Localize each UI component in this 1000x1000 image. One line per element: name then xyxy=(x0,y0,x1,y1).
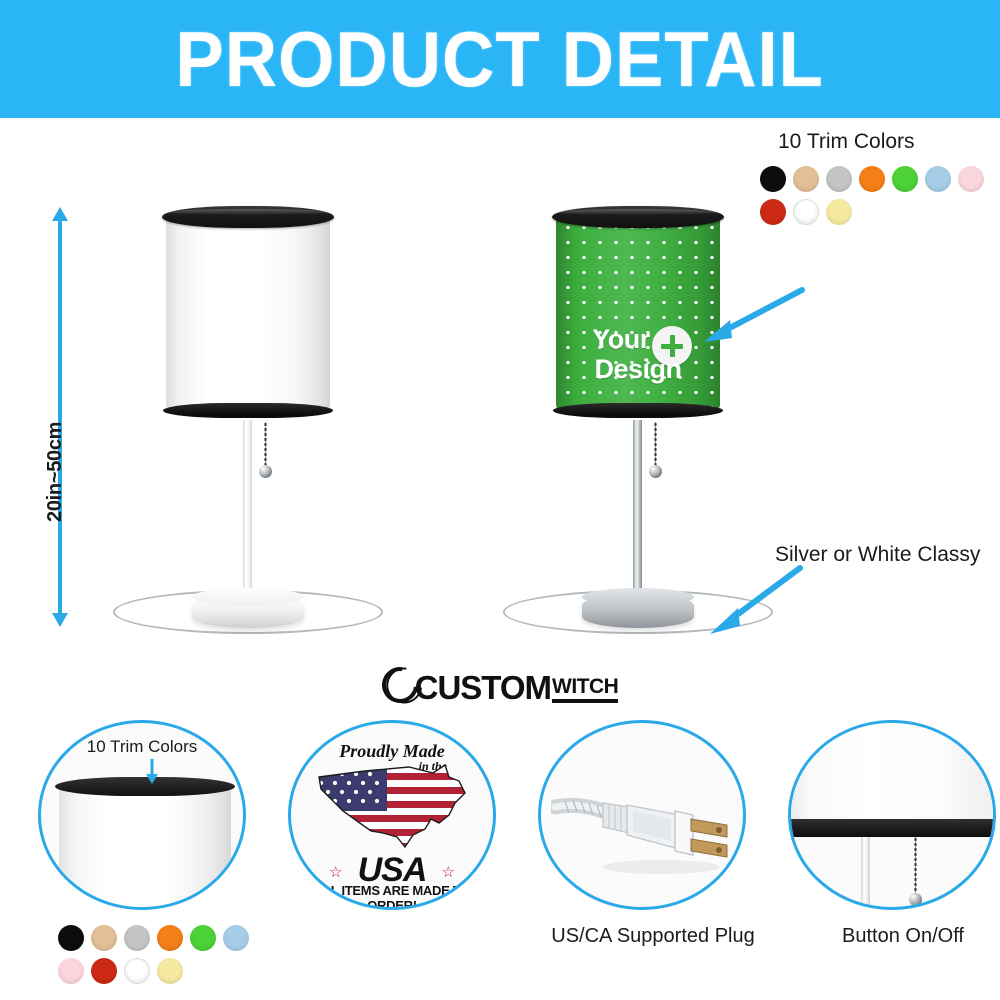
pull-chain[interactable] xyxy=(653,422,658,467)
chain-beads xyxy=(654,422,657,467)
chain-knob xyxy=(909,893,922,906)
trim-swatch-lightblue[interactable] xyxy=(223,925,249,951)
brand-logo: CUSTOM WITCH xyxy=(0,662,1000,708)
trim-swatch-gray[interactable] xyxy=(826,166,852,192)
lampshade-closeup xyxy=(788,720,996,827)
trim-top-ring xyxy=(552,206,724,228)
chain-knob xyxy=(259,465,272,478)
feature-plug: US/CA Supported Plug xyxy=(538,720,768,980)
trim-color-swatches-top[interactable] xyxy=(760,166,1000,225)
trim-color-swatches-bottom[interactable] xyxy=(58,925,268,984)
trim-swatch-green[interactable] xyxy=(892,166,918,192)
trim-swatch-lightblue[interactable] xyxy=(925,166,951,192)
feature-inner-title: 10 Trim Colors xyxy=(41,737,243,757)
trim-swatch-pink[interactable] xyxy=(958,166,984,192)
logo-primary-text: CUSTOM xyxy=(415,672,551,703)
header-banner: PRODUCT DETAIL xyxy=(0,0,1000,118)
lamp-pole-silver xyxy=(633,420,642,612)
feature-trim-colors: 10 Trim Colors xyxy=(38,720,268,980)
lamp-pole-white xyxy=(243,420,252,612)
product-detail-infographic: PRODUCT DETAIL 7in~18cm 20in~50cm xyxy=(0,0,1000,1000)
shade-surface xyxy=(166,215,330,410)
lamp-base-silver xyxy=(582,594,694,628)
trim-swatch-red[interactable] xyxy=(91,958,117,984)
chain-beads xyxy=(914,837,917,895)
usa-flag-map-icon xyxy=(313,759,477,851)
logo-secondary-text: WITCH xyxy=(552,676,618,697)
lampshade-white xyxy=(166,206,330,416)
lampshade-closeup xyxy=(59,785,231,910)
feature-button-onoff: Button On/Off xyxy=(788,720,1000,980)
trim-top-ring xyxy=(162,206,334,228)
trim-bottom-ring xyxy=(163,403,333,418)
feature-circle-outline xyxy=(788,720,996,910)
trim-swatch-black[interactable] xyxy=(760,166,786,192)
pull-chain-closeup[interactable] xyxy=(913,837,918,895)
star-icon-right: ☆ xyxy=(442,863,455,881)
trim-swatch-tan[interactable] xyxy=(91,925,117,951)
usa-badge: Proudly Made in the xyxy=(291,723,493,907)
trim-swatch-gray[interactable] xyxy=(124,925,150,951)
lamp-pole-closeup xyxy=(861,837,870,910)
lamp-showcase: 7in~18cm 20in~50cm xyxy=(0,122,1000,662)
down-arrow-icon xyxy=(144,759,160,785)
feature-circle-outline: 10 Trim Colors xyxy=(38,720,246,910)
feature-label-button: Button On/Off xyxy=(788,925,1000,948)
trim-swatch-green[interactable] xyxy=(190,925,216,951)
trim-colors-title: 10 Trim Colors xyxy=(778,130,915,154)
trim-swatch-red[interactable] xyxy=(760,199,786,225)
base-top-surface xyxy=(582,588,694,606)
chain-knob xyxy=(649,465,662,478)
pull-chain[interactable] xyxy=(263,422,268,467)
trim-swatch-orange[interactable] xyxy=(859,166,885,192)
base-finish-callout-arrow xyxy=(700,562,810,642)
feature-circle-outline xyxy=(538,720,746,910)
height-dimension-arrow xyxy=(50,207,70,627)
trim-swatch-yellow[interactable] xyxy=(157,958,183,984)
feature-made-in-usa: Proudly Made in the xyxy=(288,720,518,930)
base-top-surface xyxy=(192,588,304,606)
trim-swatch-pink[interactable] xyxy=(58,958,84,984)
lamp-base-white xyxy=(192,594,304,628)
arrow-bar xyxy=(58,219,62,615)
trim-swatch-yellow[interactable] xyxy=(826,199,852,225)
trim-swatch-white[interactable] xyxy=(793,199,819,225)
chain-beads xyxy=(264,422,267,467)
design-line-2: Design xyxy=(556,354,720,384)
feature-label-plug: US/CA Supported Plug xyxy=(538,925,768,948)
trim-bottom-ring xyxy=(553,403,723,418)
logo-underline xyxy=(552,699,618,703)
trim-swatch-tan[interactable] xyxy=(793,166,819,192)
height-dimension-label: 20in~50cm xyxy=(44,422,67,522)
trim-colors-callout-arrow xyxy=(690,282,810,352)
usa-badge-sub-text: ALL ITEMS ARE MADE TO ORDER! xyxy=(291,883,493,910)
trim-swatch-black[interactable] xyxy=(58,925,84,951)
arrow-head-bottom xyxy=(52,613,68,627)
trim-swatch-white[interactable] xyxy=(124,958,150,984)
feature-circle-outline: Proudly Made in the xyxy=(288,720,496,910)
trim-ring-closeup xyxy=(788,819,996,837)
page-title: PRODUCT DETAIL xyxy=(176,20,824,98)
power-plug-icon xyxy=(551,763,741,883)
trim-swatch-orange[interactable] xyxy=(157,925,183,951)
